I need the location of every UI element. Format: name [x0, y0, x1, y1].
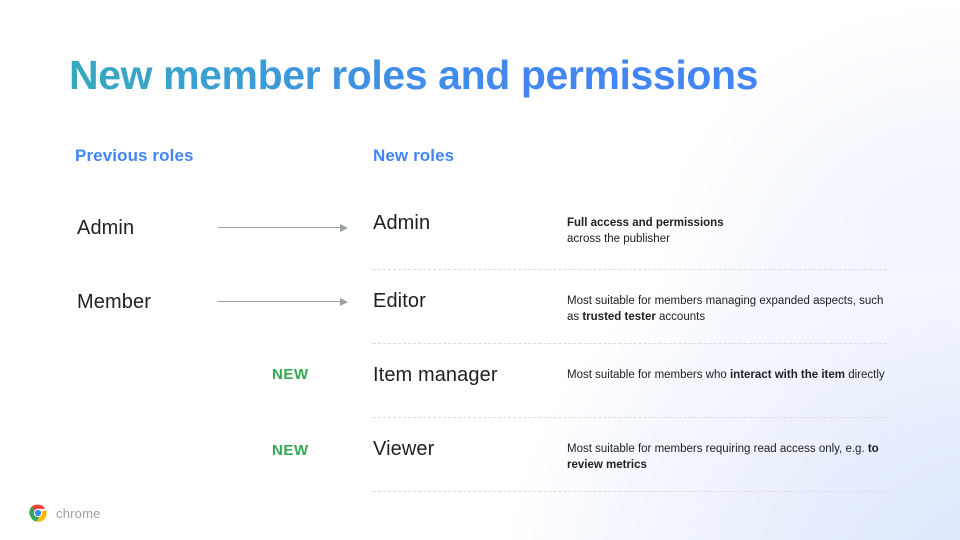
table-row: Editor Most suitable for members managin…: [373, 270, 887, 344]
new-roles-table: Admin Full access and permissionsacross …: [373, 196, 887, 492]
role-name: Admin: [373, 210, 567, 236]
column-heading-new-roles: New roles: [373, 146, 454, 166]
table-row: Admin Full access and permissionsacross …: [373, 196, 887, 270]
role-description: Full access and permissionsacross the pu…: [567, 210, 887, 247]
role-description: Most suitable for members who interact w…: [567, 362, 887, 383]
role-description: Most suitable for members managing expan…: [567, 288, 887, 325]
arrow-head-icon: [340, 298, 348, 306]
table-row: Item manager Most suitable for members w…: [373, 344, 887, 418]
previous-role-admin: Admin: [77, 217, 134, 240]
arrow-shaft: [218, 227, 344, 228]
role-name: Viewer: [373, 436, 567, 462]
mapping-arrow-member: [218, 297, 348, 307]
role-name: Item manager: [373, 362, 567, 388]
role-description: Most suitable for members requiring read…: [567, 436, 887, 473]
arrow-shaft: [218, 301, 344, 302]
slide-canvas: New member roles and permissions Previou…: [0, 0, 960, 540]
role-name: Editor: [373, 288, 567, 314]
page-title: New member roles and permissions: [69, 52, 758, 99]
arrow-head-icon: [340, 224, 348, 232]
mapping-arrow-admin: [218, 223, 348, 233]
brand-name: chrome: [56, 506, 101, 521]
previous-role-member: Member: [77, 291, 151, 314]
table-row: Viewer Most suitable for members requiri…: [373, 418, 887, 492]
status-badge-new-item-manager: NEW: [272, 366, 309, 383]
brand-lockup: chrome: [28, 503, 101, 523]
status-badge-new-viewer: NEW: [272, 442, 309, 459]
column-heading-previous-roles: Previous roles: [75, 146, 194, 166]
chrome-logo-icon: [28, 503, 48, 523]
